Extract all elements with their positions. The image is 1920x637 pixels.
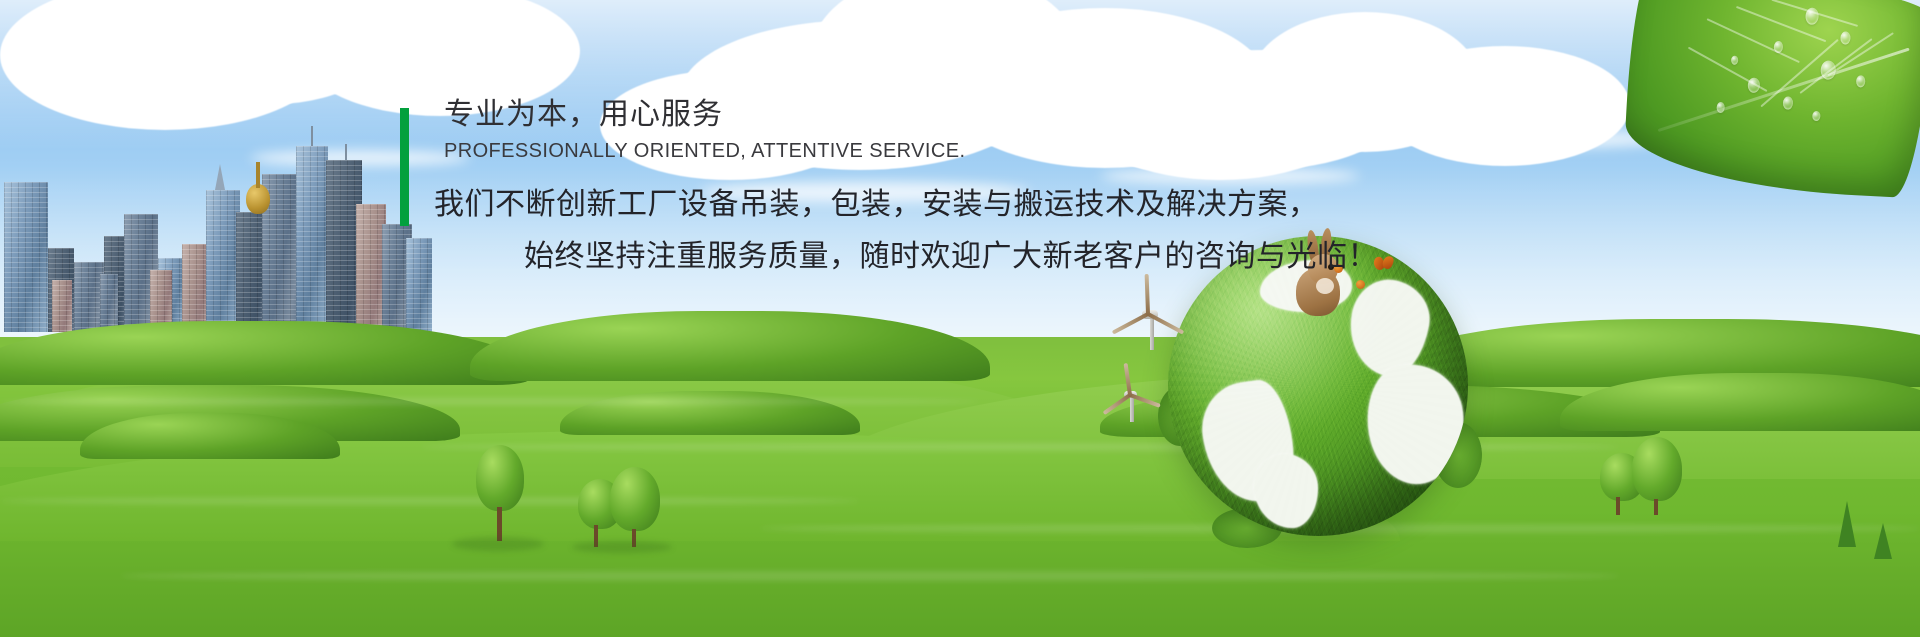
tree-pair-right — [1600, 431, 1686, 515]
golden-dome-icon — [246, 184, 270, 214]
eco-hero-banner: 专业为本，用心服务 PROFESSIONALLY ORIENTED, ATTEN… — [0, 0, 1920, 637]
continent-north-america — [1196, 376, 1300, 507]
eco-globe — [1168, 236, 1468, 536]
city-skyline — [0, 117, 430, 332]
conifer-tree-right — [1838, 501, 1856, 547]
windmill-icon-upper — [1116, 292, 1172, 348]
accent-bar — [400, 108, 409, 226]
tree-pair-center — [578, 463, 662, 545]
tree-single-left — [470, 445, 530, 541]
leaf-icon — [1623, 0, 1920, 199]
windmill-icon-lower — [1102, 376, 1150, 424]
continent-south-america — [1254, 454, 1318, 528]
continent-africa — [1342, 274, 1435, 382]
banner-headline: 专业为本，用心服务 — [444, 96, 1520, 134]
banner-subtitle: PROFESSIONALLY ORIENTED, ATTENTIVE SERVI… — [444, 140, 1520, 163]
tower-spire-icon — [215, 164, 225, 190]
banner-body-line-1: 我们不断创新工厂设备吊装，包装，安装与搬运技术及解决方案， — [434, 179, 1520, 223]
banner-body-line-2: 始终坚持注重服务质量，随时欢迎广大新老客户的咨询与光临！ — [524, 231, 1520, 275]
berry-icon — [1356, 280, 1365, 289]
grass-field — [0, 337, 1920, 637]
conifer-tree-right-2 — [1874, 523, 1892, 559]
banner-copy-block: 专业为本，用心服务 PROFESSIONALLY ORIENTED, ATTEN… — [400, 96, 1520, 275]
